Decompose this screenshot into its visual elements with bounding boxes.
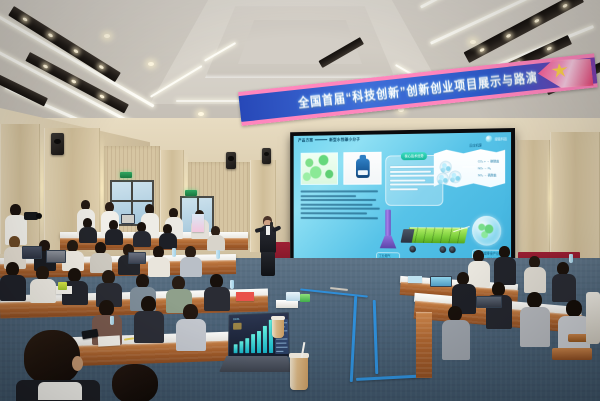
downlight [73,49,79,54]
table-row [276,351,283,352]
wall-speaker [262,148,271,164]
attendee [442,306,470,358]
presenter [258,216,280,278]
slide: 产品方案新型水性碳小分子 绿能科技 [294,132,511,268]
attendee-torso [442,320,470,360]
seat-back [552,348,592,360]
truck-wheel [409,246,416,253]
notebook [98,335,120,346]
attendee-foreground [106,364,176,404]
exit-sign [120,172,132,178]
laptop-screen [121,214,135,224]
stack-body [385,210,391,236]
poster [192,214,204,232]
seat-back [586,292,600,344]
dashboard-kpi-panel [233,323,242,330]
attendee-head [566,300,582,317]
water-bottle [110,316,114,325]
slide-card-mechanism: CO₂ + → 碳酸盐 NOₓ → N₂ SO₂ → 硫酸盐 [434,148,505,188]
laptop [22,246,42,260]
attendee [180,246,202,274]
attendee-head [24,330,80,384]
attendee-torso [176,319,206,351]
desk-side-panel-right [416,312,432,378]
drink-cup [272,318,284,338]
flow-arrow [462,166,475,167]
slide-subtitle-text: 新型水性碳小分子 [329,137,360,142]
attendee-torso [180,257,202,277]
attendee [96,270,122,304]
laptop [120,214,136,226]
attendee [148,246,170,274]
attendee-head [183,304,198,320]
attendee [30,266,56,300]
attendee-ear [72,356,83,371]
water-bottle [172,248,176,257]
slide-title-text: 产品方案 [298,138,313,143]
attendee-torso [134,311,164,343]
wall-panel [516,140,550,262]
equation-line: CO₂ + → 碳酸盐 [478,159,499,163]
attendee-torso [520,307,550,347]
company-logo-icon [486,135,493,142]
notebook [408,276,422,283]
chart-bar [239,341,243,353]
downlight [98,65,104,70]
attendee-head [172,276,185,290]
laptop-screen [430,276,452,287]
chart-bar [257,331,261,353]
truck-wheel [449,246,456,253]
attendee-collar [38,382,82,400]
chart-bar [245,338,249,353]
notebook [236,292,254,301]
attendee-torso [207,235,225,251]
downlight [71,79,77,84]
downlight [198,112,204,116]
equation-line: SO₂ → 硫酸盐 [478,173,497,177]
attendee [0,262,26,298]
slide-title-rule [315,140,327,141]
downlight [99,94,105,99]
snack-pack [300,294,310,302]
truck-wheel [439,246,446,253]
downlight [43,64,49,69]
tissue-box [286,292,300,301]
presenter-legs [261,252,275,276]
chart-bar [251,334,255,353]
wall-speaker [226,152,236,169]
slide-image-biomass [301,152,338,185]
attendee-head [492,282,505,296]
slide-card-advantage-text [390,166,441,193]
laptop-screen [476,296,502,308]
attendee-foreground [16,330,100,404]
industrial-stack-icon [380,210,397,249]
attendee [78,218,98,240]
attendee-torso [30,279,56,303]
laptop-keyboard [219,356,293,372]
attendee-head [141,296,156,312]
downlight [148,62,154,66]
downlight [22,17,28,22]
snack-box [58,282,67,290]
attendee-torso [204,287,230,311]
attendee-head [36,266,49,280]
molecule-icon [449,170,461,183]
attendee-torso [524,267,546,293]
table-row [276,347,287,348]
slide-text-left [301,190,380,221]
laptop [46,250,66,264]
attendee [176,304,206,348]
attendee [158,224,178,246]
stack-base [380,236,397,249]
attendee [520,292,550,344]
downlight [562,3,568,8]
laptop-screen [128,252,146,264]
table-row [276,338,287,339]
exit-sign [185,190,197,196]
camera-lens-icon [36,213,42,219]
attendee-head [210,274,223,288]
laptop [128,252,146,265]
attendee [494,246,516,282]
slide-logo: 绿能科技 [486,135,507,142]
downlight [479,47,485,52]
laptop-screen [46,250,66,263]
drink-cup [290,356,308,390]
attendee [204,274,230,308]
slide-title: 产品方案新型水性碳小分子 [298,137,360,144]
laptop [430,276,452,288]
equation-line: NOₓ → N₂ [478,166,491,170]
attendee [134,296,164,342]
wall-panel [550,132,600,264]
cup-lid [289,353,309,358]
ceiling-coffer-core [238,20,362,64]
molecule-icon [437,172,449,185]
water-bottle [216,250,220,259]
chart-bar [263,326,267,353]
slide-card-advantage-heading: 核心技术优势 [401,152,428,160]
attendee-head [99,300,114,316]
conference-hall-photo: 全国首届“科技创新”创新创业项目展示与路演 产品方案新型水性碳小分子 绿能科技 [0,0,600,404]
attendee-head [136,274,149,288]
product-bottle-icon [356,159,370,178]
wall-light-strip [548,140,552,256]
slide-image-product [343,152,381,185]
attendee [206,226,226,248]
table-row [276,343,286,344]
attendee [524,256,546,290]
slide-logo-text: 绿能科技 [495,136,507,141]
wall-speaker [51,133,64,155]
green-cycle-globe-icon [472,216,501,246]
attendee [90,242,112,270]
water-bottle [230,280,234,289]
downlight [547,47,553,52]
slide-mechanism-caption: 反应机理 [469,143,481,148]
downlight [48,33,54,38]
water-bottle [569,254,573,263]
attendee-torso [0,275,26,301]
attendee-head [102,270,115,284]
downlight [104,34,110,38]
microphone-icon [270,222,273,228]
attendee-head [6,262,19,276]
stacked-papers [276,300,298,308]
laptop-screen [22,246,42,259]
attendee-head [112,364,158,404]
attendee-head [448,306,462,321]
transport-truck-icon [402,223,468,253]
laptop [476,296,502,309]
downlight [506,33,512,38]
dashboard-title: DATA [233,318,239,321]
cup-lid [271,316,285,320]
attendee [552,262,576,298]
attendee-head [527,292,542,308]
downlight [534,18,540,23]
chart-bar [234,344,238,353]
downlight [470,40,476,44]
attendee-head [68,268,81,282]
attendee-torso [494,257,516,285]
attendee-torso [552,274,576,302]
